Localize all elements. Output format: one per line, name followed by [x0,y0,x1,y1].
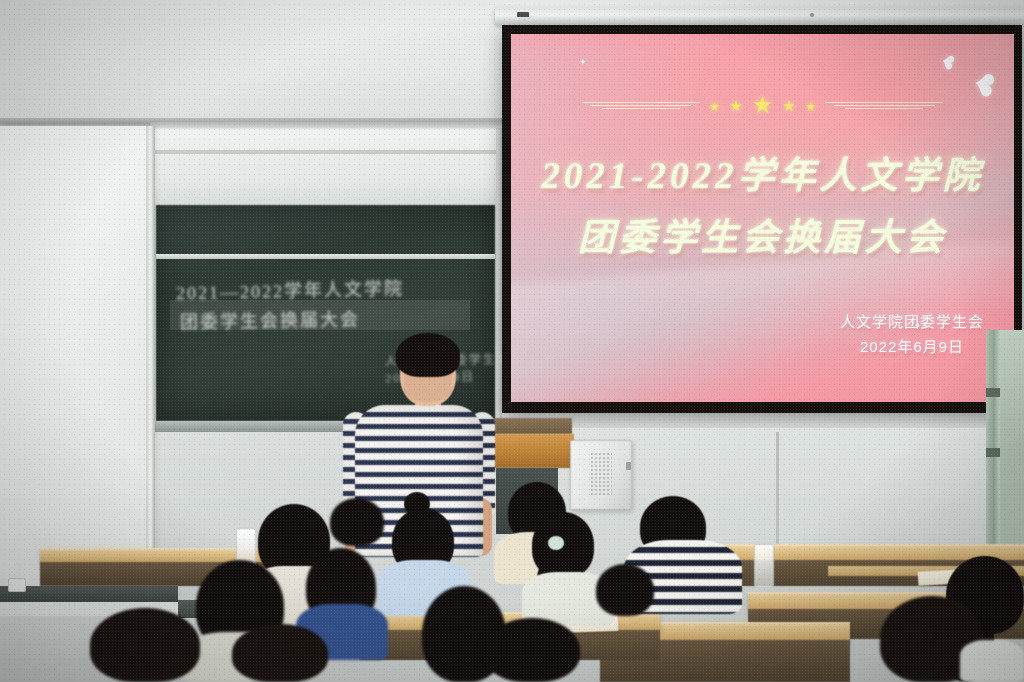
door-hinge [986,388,1000,397]
door-hinge [986,448,1000,457]
slide-title-line-1: 2021-2022学年人文学院 [511,146,1014,208]
student-hair [330,498,384,546]
amplifier-grille [590,452,612,496]
deco-line-left [582,101,700,111]
student-hair [232,624,328,682]
blackboard-rail-top [155,150,496,154]
student-body [960,640,1024,682]
water-bottle[interactable] [754,544,774,588]
projector-screen-housing [495,7,1024,25]
star-icon: ★ [729,99,742,114]
whiteboard-rail-secondary [150,122,510,128]
star-icon: ★ [782,99,795,114]
screen-housing-dot [810,13,814,17]
wall-outlet[interactable] [8,578,26,592]
wall-baseboard [0,586,178,602]
slide-footer-org: 人文学院团委学生会 [840,310,984,335]
dove-icon: ❥ [938,52,959,75]
star-decoration-row: ★ ★ ★ ★ ★ [511,94,1014,118]
amplifier-knob[interactable] [626,462,631,470]
star-icon: ★ [752,94,774,118]
presenter-hair [396,333,460,377]
eyeglasses [344,578,374,591]
sparkle-icon: ✦ [579,58,587,67]
star-icon: ★ [805,100,817,113]
blackboard-rail-mid [156,254,495,259]
podium-lectern[interactable] [484,434,574,468]
blackboard-upper-white-band [155,128,496,206]
blackboard-line-1: 2021—2022学年人文学院 [176,275,404,306]
slide-footer-date: 2022年6月9日 [840,335,984,360]
hair-tie [548,536,564,550]
wall-panel-seam [776,432,779,552]
slide-title: 2021-2022学年人文学院 团委学生会换届大会 [511,146,1014,270]
whiteboard-edge [146,126,155,606]
slide-footer: 人文学院团委学生会 2022年6月9日 [840,310,984,360]
student-hair [484,618,580,682]
star-icon: ★ [709,100,721,113]
projection-screen: ❥ ❥ ✦ ✦ ★ ★ ★ ★ ★ 2021-2022学年人文学院 团委学生会换… [502,25,1022,413]
student-hair [90,608,200,682]
sliding-whiteboard-panel[interactable] [0,126,153,606]
slide-title-line-2: 团委学生会换届大会 [511,208,1014,270]
student-hair [596,564,654,616]
projected-slide: ❥ ❥ ✦ ✦ ★ ★ ★ ★ ★ 2021-2022学年人文学院 团委学生会换… [511,34,1014,402]
deco-line-right [825,101,943,111]
student-hair-bun [404,492,430,516]
blackboard-line-2: 团委学生会换届大会 [180,305,360,334]
classroom-photo-scene: 2021—2022学年人文学院 团委学生会换届大会 人文学院团委学生会 2022… [0,0,1024,682]
screen-control-button[interactable] [517,12,529,17]
